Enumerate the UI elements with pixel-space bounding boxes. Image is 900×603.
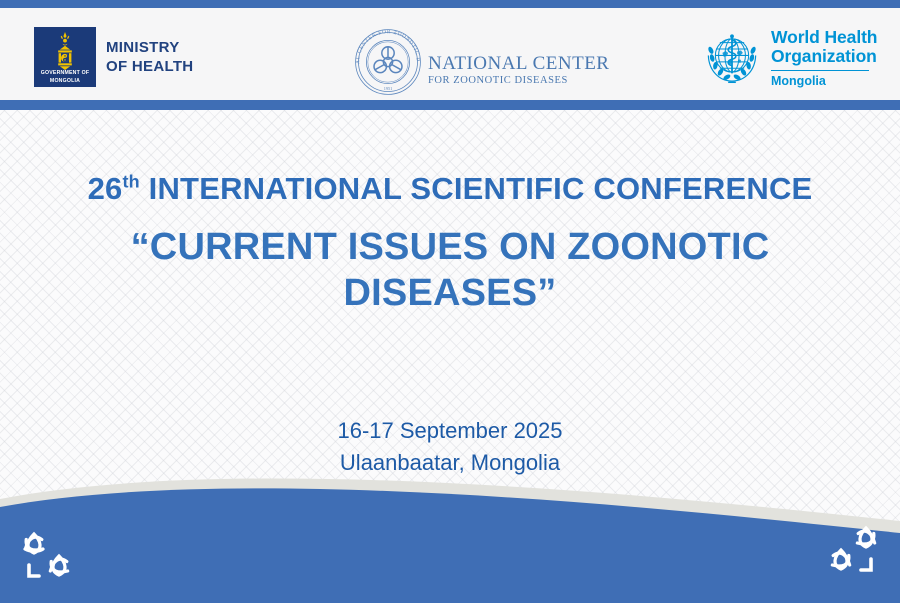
who-logo: World Health Organization Mongolia [700, 26, 877, 90]
ministry-name-line1: MINISTRY [106, 38, 193, 58]
conference-label: INTERNATIONAL SCIENTIFIC CONFERENCE [149, 171, 813, 206]
event-location: Ulaanbaatar, Mongolia [0, 447, 900, 479]
emblem-caption-line1: GOVERNMENT OF [34, 70, 96, 76]
national-center-name-line1: NATIONAL CENTER [428, 54, 609, 75]
who-country-label: Mongolia [771, 74, 877, 88]
who-name-block: World Health Organization Mongolia [771, 26, 877, 88]
conference-ordinal: th [122, 172, 139, 192]
conference-number: 26 [88, 171, 123, 206]
national-center-name-line2: FOR ZOONOTIC DISEASES [428, 75, 609, 86]
who-name-line2: Organization [771, 47, 877, 66]
event-date: 16-17 September 2025 [0, 415, 900, 447]
mongolia-government-emblem: GOVERNMENT OF MONGOLIA [34, 27, 96, 87]
national-center-name: NATIONAL CENTER FOR ZOONOTIC DISEASES [428, 38, 609, 86]
header-divider-bar [0, 100, 900, 110]
conference-title-slide: GOVERNMENT OF MONGOLIA MINISTRY OF HEALT… [0, 0, 900, 603]
ministry-of-health-logo: GOVERNMENT OF MONGOLIA MINISTRY OF HEALT… [34, 27, 193, 87]
who-divider-rule [771, 70, 869, 72]
triquetra-knot-ornament-left [14, 525, 86, 587]
svg-text:1951: 1951 [384, 86, 393, 91]
conference-theme-line2: DISEASES” [60, 271, 840, 317]
national-center-logo: NATIONAL CENTER FOR ZOONOTIC DISEASES 19… [352, 26, 609, 98]
emblem-caption-line2: MONGOLIA [34, 78, 96, 84]
conference-theme: “CURRENT ISSUES ON ZOONOTIC DISEASES” [0, 225, 900, 316]
event-meta: 16-17 September 2025 Ulaanbaatar, Mongol… [0, 415, 900, 479]
slide-body: 26th INTERNATIONAL SCIENTIFIC CONFERENCE… [0, 110, 900, 603]
ministry-name-line2: OF HEALTH [106, 57, 193, 77]
top-accent-bar [0, 0, 900, 8]
triquetra-knot-ornament-right [814, 519, 886, 581]
conference-heading: 26th INTERNATIONAL SCIENTIFIC CONFERENCE [0, 172, 900, 206]
soyombo-icon [50, 31, 80, 71]
logo-header: GOVERNMENT OF MONGOLIA MINISTRY OF HEALT… [0, 8, 900, 100]
conference-theme-line1: “CURRENT ISSUES ON ZOONOTIC [60, 225, 840, 271]
title-block: 26th INTERNATIONAL SCIENTIFIC CONFERENCE… [0, 172, 900, 316]
ministry-of-health-name: MINISTRY OF HEALTH [106, 38, 193, 77]
biohazard-seal-icon: NATIONAL CENTER FOR ZOONOTIC DISEASES 19… [352, 26, 424, 98]
who-emblem-icon [700, 26, 764, 90]
who-name-line1: World Health [771, 28, 877, 47]
